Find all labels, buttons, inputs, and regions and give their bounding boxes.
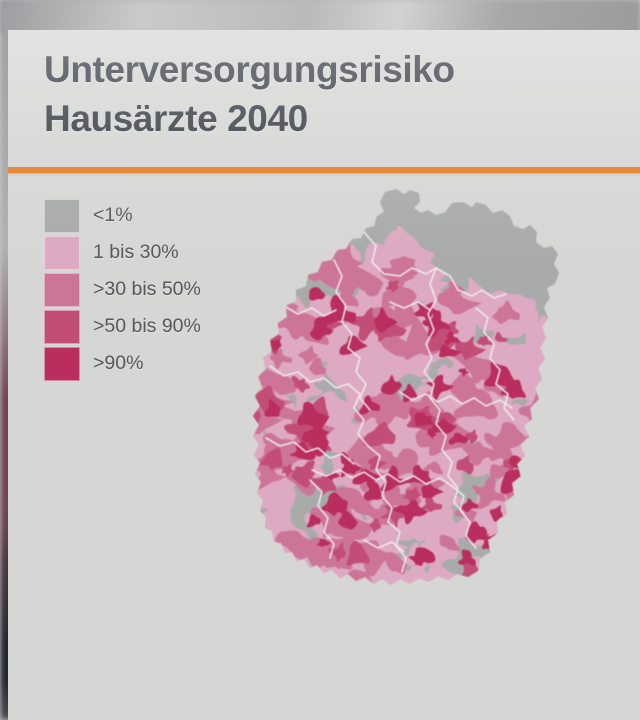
district (495, 580, 513, 594)
germany-map-svg (214, 180, 594, 690)
district-high-risk (343, 639, 367, 660)
district (537, 435, 553, 448)
district-high-risk (319, 576, 337, 590)
district (235, 410, 261, 429)
orange-divider-rule (8, 167, 640, 173)
district (538, 433, 572, 465)
legend-item-1: 1 bis 30% (44, 234, 201, 271)
district (525, 517, 594, 562)
legend-swatch-1-30 (44, 236, 80, 270)
district (519, 487, 530, 496)
district (351, 589, 373, 607)
district-high-risk (450, 591, 472, 609)
district (534, 380, 570, 423)
legend-item-0: <1% (44, 197, 201, 234)
district (526, 471, 558, 494)
blurred-video-top-strip (0, 0, 640, 34)
legend-swatch-50-90 (44, 310, 80, 344)
legend-label-1-30: 1 bis 30% (93, 241, 179, 264)
graphic-panel: Unterversorgungsrisiko Hausärzte 2040 <1… (8, 30, 640, 720)
title-line-2: Hausärzte 2040 (44, 95, 604, 144)
legend-label-30-50: >30 bis 50% (93, 278, 201, 301)
district-high-risk (408, 637, 430, 654)
district (471, 585, 511, 613)
germany-choropleth-map (214, 180, 594, 690)
district-high-risk (331, 658, 352, 674)
legend-item-2: >30 bis 50% (44, 271, 201, 308)
district (524, 426, 572, 468)
district (470, 577, 503, 608)
district (494, 564, 518, 581)
district-high-risk (360, 620, 384, 643)
district (498, 542, 545, 586)
district (305, 580, 340, 601)
legend-swatch-lt1 (44, 199, 80, 233)
district-high-risk (389, 607, 414, 629)
legend-label-gt90: >90% (93, 352, 143, 375)
legend-label-50-90: >50 bis 90% (93, 315, 201, 338)
district (256, 268, 288, 303)
legend-swatch-30-50 (44, 273, 80, 307)
district (504, 537, 524, 550)
title-line-1: Unterversorgungsrisiko (44, 46, 604, 95)
page-title: Unterversorgungsrisiko Hausärzte 2040 (44, 46, 604, 144)
district (504, 519, 534, 552)
district (487, 542, 521, 574)
district (481, 552, 511, 576)
district (298, 584, 318, 600)
district-high-risk (373, 592, 406, 616)
district (536, 429, 572, 469)
legend-label-lt1: <1% (93, 204, 133, 227)
legend-item-3: >50 bis 90% (44, 308, 201, 345)
district-high-risk (517, 480, 542, 502)
district (222, 339, 251, 358)
district (225, 291, 283, 331)
district (523, 455, 555, 488)
district (533, 444, 572, 488)
legend-item-4: >90% (44, 345, 201, 382)
district (531, 469, 550, 483)
district (531, 503, 569, 544)
legend-swatch-gt90 (44, 347, 80, 381)
map-legend: <1% 1 bis 30% >30 bis 50% >50 bis 90% >9… (44, 197, 201, 382)
district (492, 541, 511, 559)
broadcast-screen: Unterversorgungsrisiko Hausärzte 2040 <1… (0, 0, 640, 720)
district (537, 417, 573, 442)
